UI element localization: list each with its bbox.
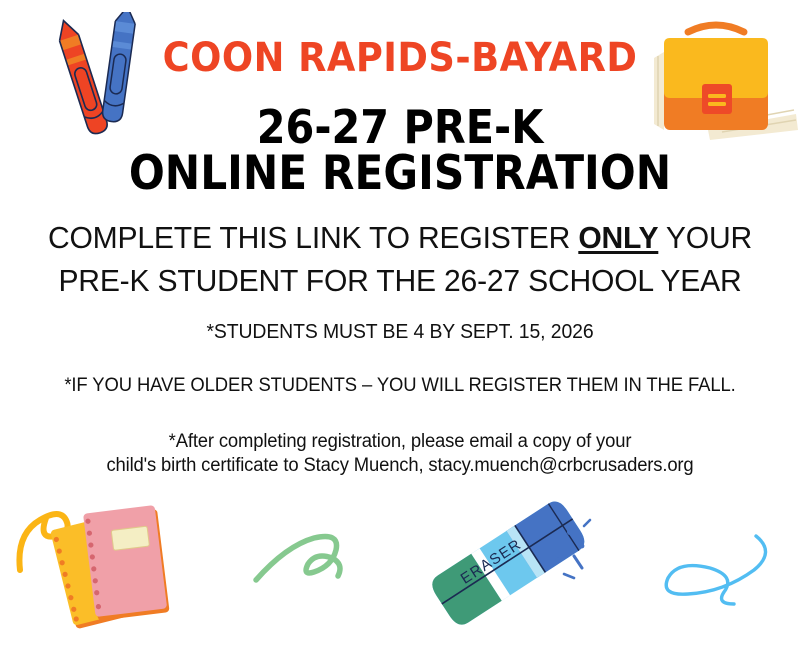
school-name-heading: COON RAPIDS-BAYARD [32,38,768,78]
instruction-prefix: COMPLETE THIS LINK TO REGISTER [48,220,578,255]
closing-line-1: *After completing registration, please e… [12,430,788,454]
closing-line-2: child's birth certificate to Stacy Muenc… [12,454,788,478]
poster-canvas: COON RAPIDS-BAYARD 26-27 PRE-K ONLINE RE… [0,0,800,671]
instruction-line-1: COMPLETE THIS LINK TO REGISTER ONLY YOUR [12,222,788,253]
green-squiggle-icon [252,528,364,602]
blue-squiggle-icon [658,534,782,622]
notebooks-icon [16,492,216,632]
age-requirement-note: *STUDENTS MUST BE 4 BY SEPT. 15, 2026 [12,322,788,342]
older-students-note: *IF YOU HAVE OLDER STUDENTS – YOU WILL R… [12,376,788,395]
eraser-icon: ERASER [424,498,596,626]
headline-line-1: 26-27 PRE-K [40,104,760,150]
instruction-line-2: PRE-K STUDENT FOR THE 26-27 SCHOOL YEAR [12,265,788,296]
instruction-emphasis: ONLY [578,220,658,255]
instruction-suffix: YOUR [658,220,752,255]
headline-line-2: ONLINE REGISTRATION [40,150,760,197]
